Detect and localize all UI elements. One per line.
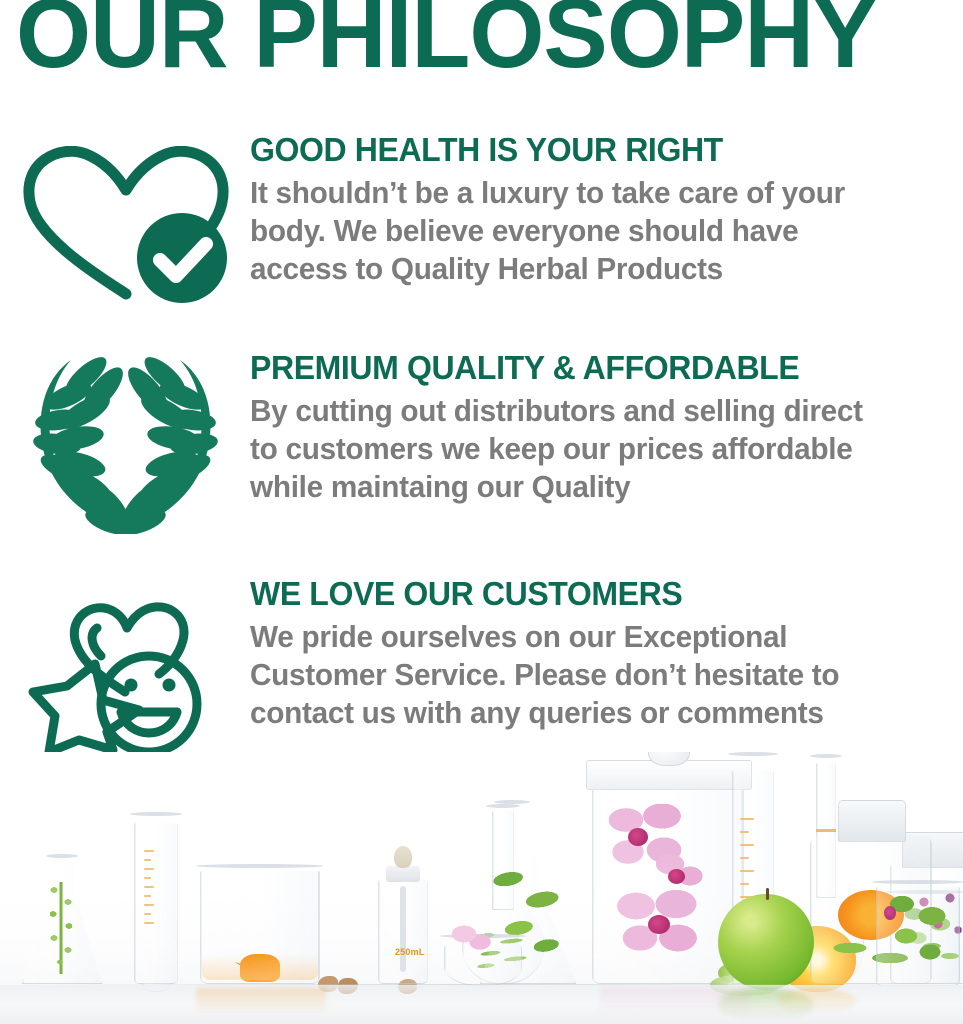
- dropper-bottle: [372, 844, 434, 984]
- reflection-cucumber: [718, 988, 794, 1006]
- feature-text-block: WE LOVE OUR CUSTOMERS We pride ourselves…: [250, 576, 963, 732]
- bottle-neck: [838, 800, 906, 842]
- clover-bud: [884, 906, 896, 920]
- beaker-volume-label: 250mL: [395, 947, 425, 957]
- feature-icon-slot: [0, 350, 250, 534]
- lab-glassware-photo: 250mL: [0, 752, 963, 1024]
- orchid-center: [668, 869, 685, 884]
- feature-row: PREMIUM QUALITY & AFFORDABLE By cutting …: [0, 350, 963, 568]
- smiley-eye-right: [163, 679, 176, 692]
- heart-star-smiley-icon: [21, 592, 229, 762]
- apple-stem: [766, 888, 769, 900]
- feature-heading: GOOD HEALTH IS YOUR RIGHT: [250, 132, 922, 168]
- flask-thyme: [16, 856, 108, 984]
- page-title: OUR PHILOSOPHY: [16, 0, 876, 82]
- feature-heading: PREMIUM QUALITY & AFFORDABLE: [250, 350, 922, 386]
- orchid-center: [628, 828, 648, 846]
- beaker-orange: [196, 866, 326, 984]
- heart-inner-stroke: [92, 628, 101, 656]
- beaker-mint-front: [872, 882, 963, 986]
- feature-body: By cutting out distributors and selling …: [250, 392, 874, 506]
- feature-body: It shouldn’t be a luxury to take care of…: [250, 174, 874, 288]
- feature-body: We pride ourselves on our Exceptional Cu…: [250, 618, 874, 732]
- laurel-wreath-icon: [23, 356, 228, 534]
- feature-heading: WE LOVE OUR CUSTOMERS: [250, 576, 922, 612]
- reflection-orange: [196, 988, 326, 1014]
- thyme-sprig: [50, 882, 72, 974]
- graduated-cylinder-left: [126, 814, 186, 984]
- dropper-bulb: [394, 846, 412, 868]
- pink-flower: [452, 922, 492, 952]
- feature-text-block: PREMIUM QUALITY & AFFORDABLE By cutting …: [250, 350, 963, 506]
- feature-text-block: GOOD HEALTH IS YOUR RIGHT It shouldn’t b…: [250, 132, 963, 288]
- dropper-cap: [386, 866, 420, 882]
- feature-row: WE LOVE OUR CUSTOMERS We pride ourselves…: [0, 576, 963, 776]
- philosophy-page: OUR PHILOSOPHY GOOD HEALTH IS YOUR RIGHT…: [0, 0, 963, 1024]
- green-apple: [718, 894, 814, 990]
- orchid-center: [648, 915, 670, 934]
- check-badge: [137, 213, 227, 303]
- feature-list: GOOD HEALTH IS YOUR RIGHT It shouldn’t b…: [0, 132, 963, 784]
- feature-icon-slot: [0, 576, 250, 762]
- heart-check-icon: [16, 146, 234, 306]
- feature-icon-slot: [0, 132, 250, 306]
- smiley-eye-left: [125, 679, 138, 692]
- mint-leaves: [886, 890, 952, 966]
- feature-row: GOOD HEALTH IS YOUR RIGHT It shouldn’t b…: [0, 132, 963, 342]
- smiley-mouth: [121, 712, 177, 733]
